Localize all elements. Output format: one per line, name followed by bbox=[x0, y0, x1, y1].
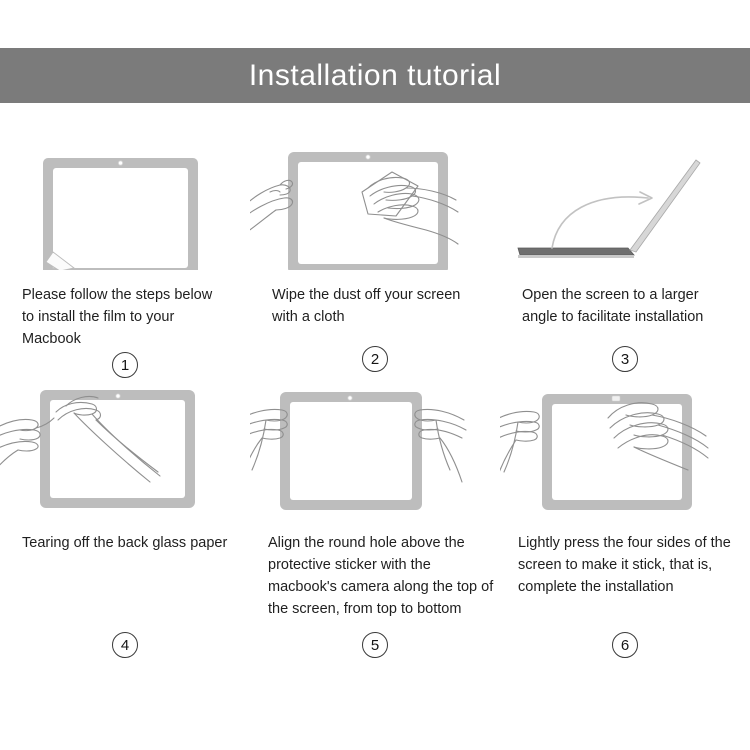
tutorial-step-1: Please follow the steps below to install… bbox=[0, 130, 250, 378]
illustration-hands-wiping-screen-with-cloth bbox=[250, 130, 500, 270]
step-6-badge-wrap: 6 bbox=[500, 632, 750, 658]
page-title: Installation tutorial bbox=[249, 61, 501, 91]
tutorial-step-grid: Please follow the steps below to install… bbox=[0, 130, 750, 658]
step-number-badge: 1 bbox=[112, 352, 138, 378]
step-2-caption: Wipe the dust off your screen with a clo… bbox=[250, 270, 500, 344]
header-banner: Installation tutorial bbox=[0, 48, 750, 103]
step-5-badge-wrap: 5 bbox=[250, 632, 500, 658]
step-5-caption: Align the round hole above the protectiv… bbox=[250, 518, 500, 630]
step-number-badge: 2 bbox=[362, 346, 388, 372]
step-number-badge: 5 bbox=[362, 632, 388, 658]
step-2-badge-wrap: 2 bbox=[250, 346, 500, 372]
illustration-screen-with-peeling-corner bbox=[0, 130, 250, 270]
tutorial-step-2: Wipe the dust off your screen with a clo… bbox=[250, 130, 500, 378]
step-number-badge: 3 bbox=[612, 346, 638, 372]
step-6-caption: Lightly press the four sides of the scre… bbox=[500, 518, 750, 630]
step-number-badge: 6 bbox=[612, 632, 638, 658]
tutorial-step-3: Open the screen to a larger angle to fac… bbox=[500, 130, 750, 378]
tutorial-step-4: Tearing off the back glass paper 4 bbox=[0, 378, 250, 658]
illustration-hands-tearing-back-paper bbox=[0, 378, 250, 518]
step-4-caption: Tearing off the back glass paper bbox=[0, 518, 250, 630]
illustration-laptop-opening-side-view-with-arrow bbox=[500, 130, 750, 270]
step-1-badge-wrap: 1 bbox=[0, 352, 250, 378]
tutorial-step-6: Lightly press the four sides of the scre… bbox=[500, 378, 750, 658]
step-4-badge-wrap: 4 bbox=[0, 632, 250, 658]
tutorial-step-5: Align the round hole above the protectiv… bbox=[250, 378, 500, 658]
step-3-badge-wrap: 3 bbox=[500, 346, 750, 372]
step-3-caption: Open the screen to a larger angle to fac… bbox=[500, 270, 750, 344]
illustration-hand-pressing-screen-edges bbox=[500, 378, 750, 518]
step-number-badge: 4 bbox=[112, 632, 138, 658]
illustration-two-hands-holding-film-over-screen bbox=[250, 378, 500, 518]
step-1-caption: Please follow the steps below to install… bbox=[0, 270, 250, 350]
